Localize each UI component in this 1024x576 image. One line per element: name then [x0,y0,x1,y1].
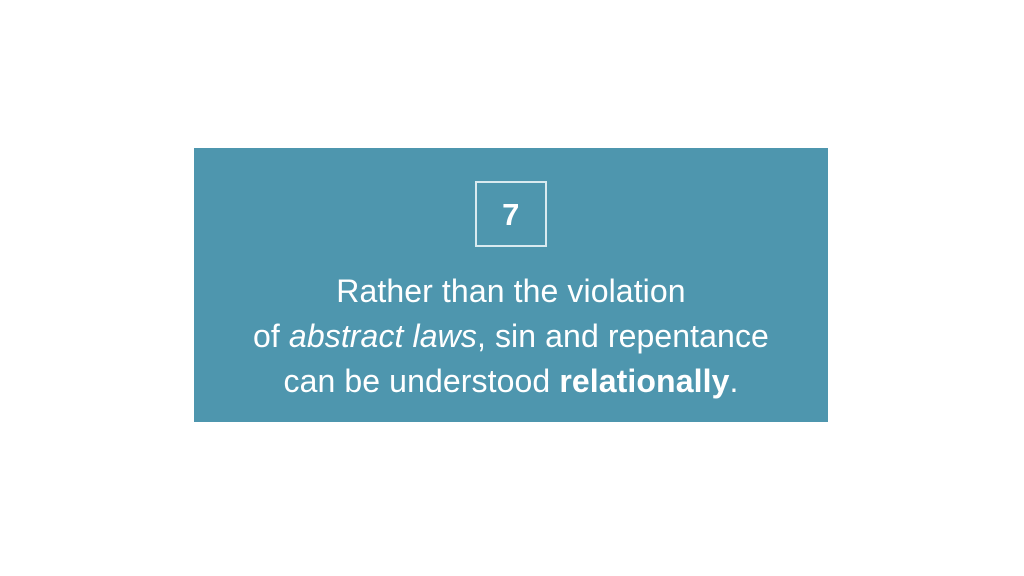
quote-segment-regular: can be understood [284,363,560,399]
slide-canvas: 7 Rather than the violation of abstract … [0,0,1024,576]
number-badge: 7 [475,181,547,247]
badge-number-label: 7 [502,199,520,230]
quote-segment-italic: abstract laws [289,318,477,354]
callout-panel: 7 Rather than the violation of abstract … [194,148,828,422]
quote-segment-regular: . [729,363,738,399]
quote-segment-bold: relationally [559,363,729,399]
quote-line-2: of abstract laws, sin and repentance [201,314,821,359]
quote-segment-regular: of [253,318,289,354]
quote-text-block: Rather than the violation of abstract la… [201,269,821,404]
quote-line-3: can be understood relationally. [201,359,821,404]
quote-segment-regular: , sin and repentance [477,318,769,354]
quote-line-1: Rather than the violation [201,269,821,314]
quote-segment-regular: Rather than the violation [336,273,685,309]
